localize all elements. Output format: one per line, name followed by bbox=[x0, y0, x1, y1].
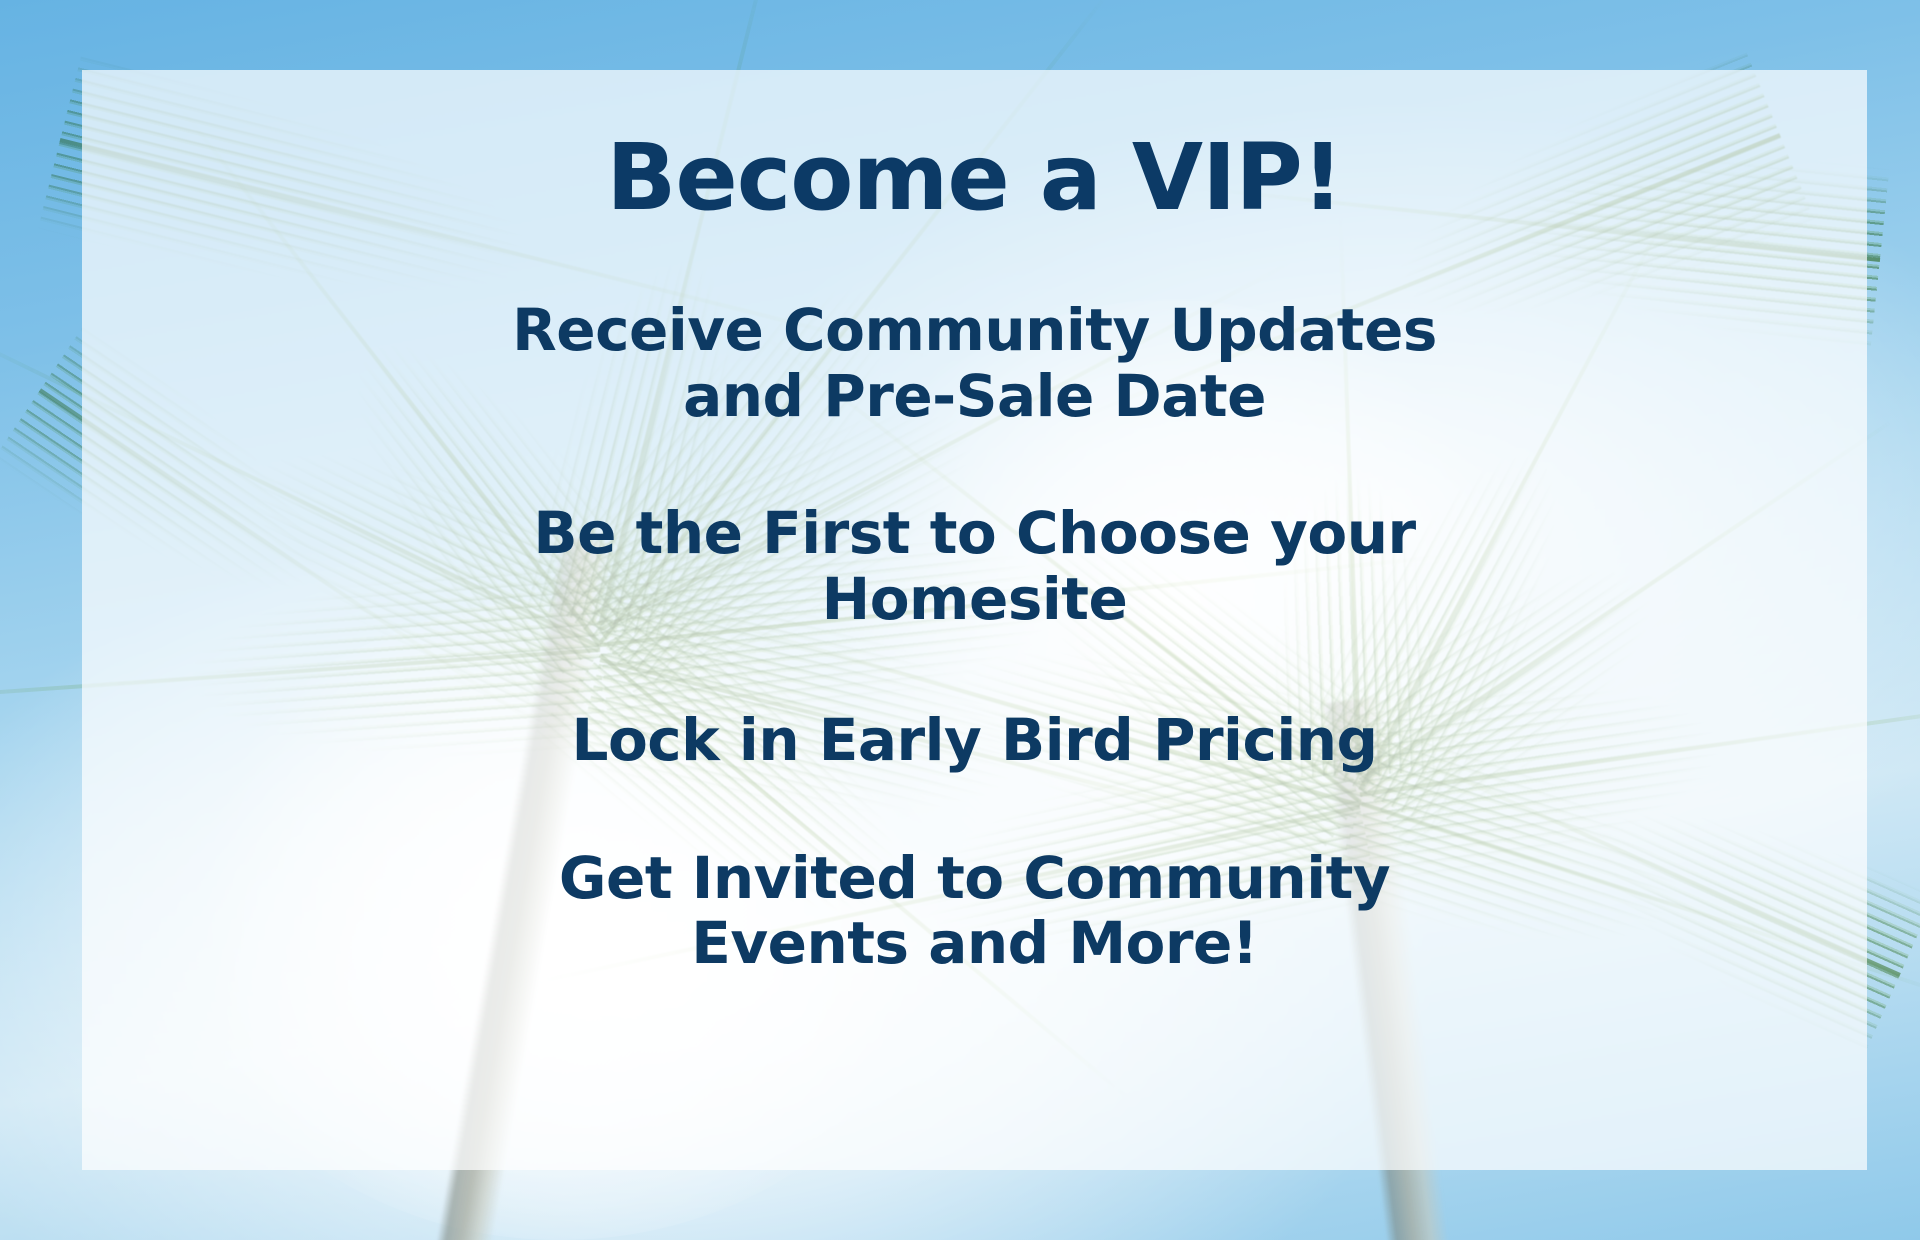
benefit-4-line-2: Events and More! bbox=[559, 911, 1390, 977]
page-title: Become a VIP! bbox=[606, 132, 1342, 224]
benefit-item-1: Receive Community Updates and Pre-Sale D… bbox=[512, 298, 1437, 429]
benefit-4-line-1: Get Invited to Community bbox=[559, 846, 1390, 912]
benefit-3-line-1: Lock in Early Bird Pricing bbox=[571, 708, 1377, 774]
benefit-item-4: Get Invited to Community Events and More… bbox=[559, 846, 1390, 977]
benefit-item-3: Lock in Early Bird Pricing bbox=[571, 708, 1377, 774]
benefit-item-2: Be the First to Choose your Homesite bbox=[533, 501, 1415, 632]
vip-poster: Become a VIP! Receive Community Updates … bbox=[0, 0, 1920, 1240]
benefit-1-line-1: Receive Community Updates bbox=[512, 298, 1437, 364]
poster-copy: Become a VIP! Receive Community Updates … bbox=[82, 70, 1867, 1170]
benefit-1-line-2: and Pre-Sale Date bbox=[512, 364, 1437, 430]
benefit-2-line-1: Be the First to Choose your bbox=[533, 501, 1415, 567]
benefit-2-line-2: Homesite bbox=[533, 567, 1415, 633]
